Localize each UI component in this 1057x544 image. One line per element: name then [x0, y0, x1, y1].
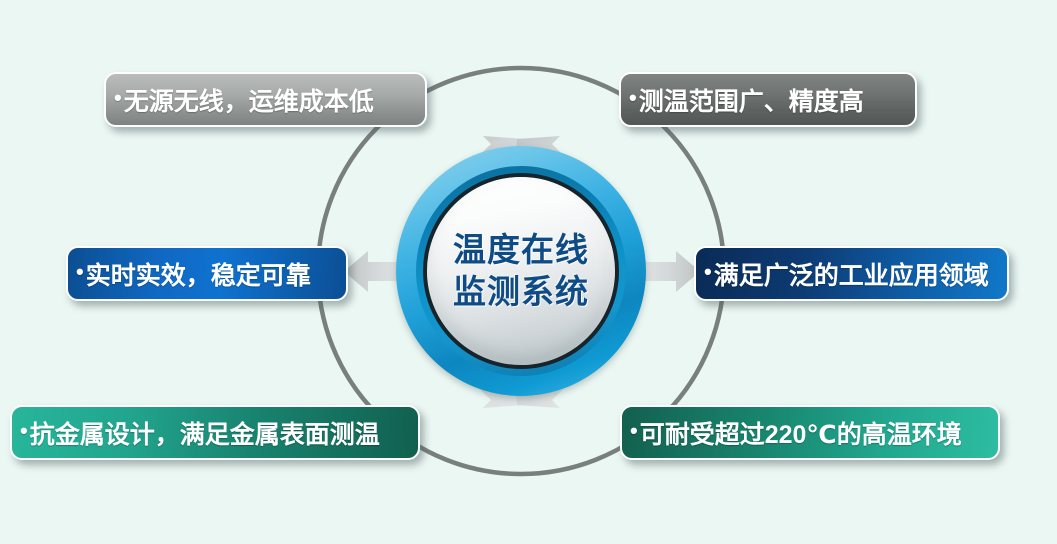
feature-box-top-right[interactable]: • 测温范围广、精度高 [619, 72, 917, 127]
bullet-icon: • [76, 261, 84, 283]
bullet-icon: • [704, 261, 712, 283]
feature-label-top-left: 无源无线，运维成本低 [124, 82, 374, 118]
bullet-icon: • [630, 420, 638, 442]
feature-label-middle-left: 实时实效，稳定可靠 [86, 256, 311, 292]
feature-box-top-left[interactable]: • 无源无线，运维成本低 [104, 72, 427, 127]
bullet-icon: • [629, 87, 637, 109]
feature-label-bottom-left: 抗金属设计，满足金属表面测温 [30, 415, 380, 451]
feature-box-bottom-left[interactable]: • 抗金属设计，满足金属表面测温 [10, 405, 420, 460]
hub-title: 温度在线 监测系统 [453, 229, 589, 313]
feature-box-middle-right[interactable]: • 满足广泛的工业应用领域 [694, 246, 1009, 301]
feature-label-top-right: 测温范围广、精度高 [639, 82, 864, 118]
feature-box-middle-left[interactable]: • 实时实效，稳定可靠 [66, 246, 348, 301]
center-hub: 温度在线 监测系统 [396, 146, 646, 396]
bullet-icon: • [114, 87, 122, 109]
infographic-canvas: 温度在线 监测系统 • 无源无线，运维成本低 • 测温范围广、精度高 • 实时实… [0, 0, 1057, 544]
bullet-icon: • [20, 420, 28, 442]
feature-box-bottom-right[interactable]: • 可耐受超过220℃的高温环境 [620, 405, 1000, 460]
feature-label-middle-right: 满足广泛的工业应用领域 [714, 256, 989, 292]
feature-label-bottom-right: 可耐受超过220℃的高温环境 [640, 415, 962, 451]
hub-face: 温度在线 监测系统 [427, 177, 615, 365]
